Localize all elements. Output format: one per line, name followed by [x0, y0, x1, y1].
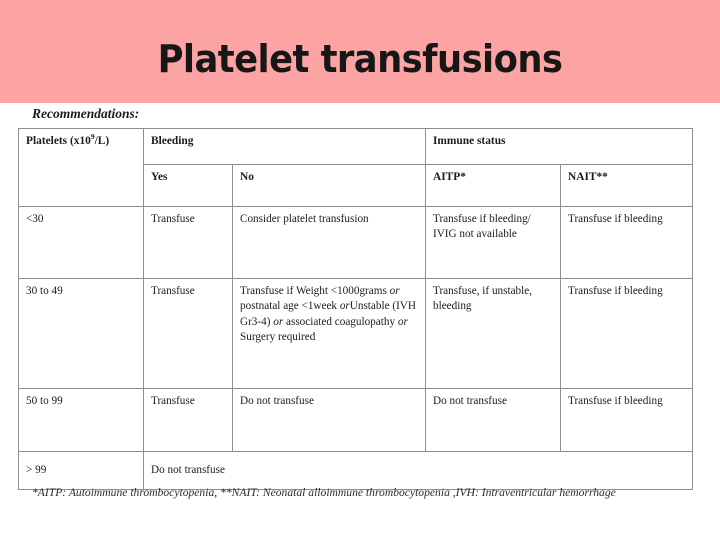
cell-aitp: Transfuse, if unstable, bleeding [426, 279, 561, 389]
criteria-or-2: or [340, 300, 350, 312]
column-header-bleeding-yes: Yes [144, 165, 233, 207]
page-title: Platelet transfusions [25, 0, 695, 103]
cell-nait: Transfuse if bleeding [561, 207, 693, 279]
table-row: 30 to 49 Transfuse Transfuse if Weight <… [19, 279, 693, 389]
recommendations-caption: Recommendations: [32, 106, 139, 122]
column-header-aitp: AITP* [426, 165, 561, 207]
cell-bleeding-no: Do not transfuse [233, 389, 426, 452]
column-header-nait: NAIT** [561, 165, 693, 207]
column-header-platelets: Platelets (x109/L) [19, 129, 144, 207]
group-header-bleeding: Bleeding [144, 129, 426, 165]
cell-platelets-range: 50 to 99 [19, 389, 144, 452]
criteria-text-2: postnatal age <1week [240, 300, 340, 312]
cell-platelets-range: 30 to 49 [19, 279, 144, 389]
table-row: <30 Transfuse Consider platelet transfus… [19, 207, 693, 279]
criteria-or-4: or [398, 316, 408, 328]
table-header: Platelets (x109/L) Bleeding Immune statu… [19, 129, 693, 207]
platelets-label-suffix: /L) [95, 135, 110, 147]
cell-bleeding-yes: Transfuse [144, 389, 233, 452]
table-body: <30 Transfuse Consider platelet transfus… [19, 207, 693, 490]
criteria-text-1: Transfuse if Weight <1000grams [240, 285, 390, 297]
title-banner: Platelet transfusions [0, 0, 720, 103]
cell-platelets-range: <30 [19, 207, 144, 279]
table-row: 50 to 99 Transfuse Do not transfuse Do n… [19, 389, 693, 452]
cell-nait: Transfuse if bleeding [561, 279, 693, 389]
group-header-immune-status: Immune status [426, 129, 693, 165]
cell-aitp: Transfuse if bleeding/ IVIG not availabl… [426, 207, 561, 279]
table-header-row-groups: Platelets (x109/L) Bleeding Immune statu… [19, 129, 693, 165]
platelet-transfusion-table: Platelets (x109/L) Bleeding Immune statu… [18, 128, 693, 490]
cell-bleeding-yes: Transfuse [144, 207, 233, 279]
platelets-label-prefix: Platelets (x10 [26, 135, 91, 147]
table-footnote: *AITP: Autoimmune thrombocytopenia, **NA… [32, 484, 692, 501]
criteria-text-5: Surgery required [240, 331, 315, 343]
cell-nait: Transfuse if bleeding [561, 389, 693, 452]
cell-aitp: Do not transfuse [426, 389, 561, 452]
cell-bleeding-yes: Transfuse [144, 279, 233, 389]
cell-bleeding-no: Consider platelet transfusion [233, 207, 426, 279]
column-header-bleeding-no: No [233, 165, 426, 207]
criteria-text-4: associated coagulopathy [283, 316, 398, 328]
criteria-or-1: or [390, 285, 400, 297]
criteria-or-3: or [273, 316, 283, 328]
cell-bleeding-no: Transfuse if Weight <1000grams or postna… [233, 279, 426, 389]
